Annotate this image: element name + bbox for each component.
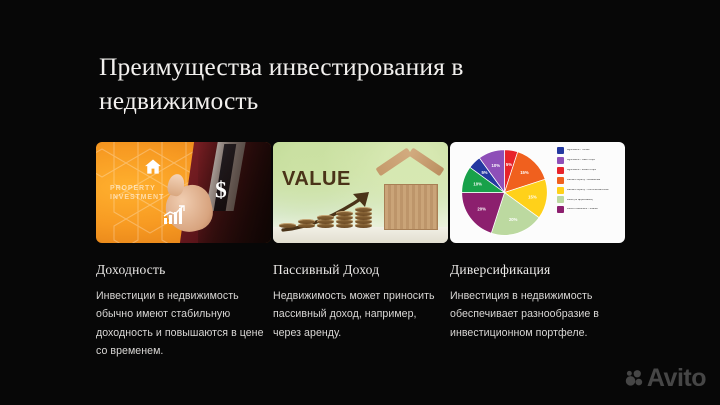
legend-swatch (557, 177, 564, 184)
avito-watermark: Avito (625, 366, 706, 391)
pie-chart-graphic: 5%15%15%20%20%10%5%10% (454, 146, 555, 239)
avito-dots-logo (625, 369, 644, 388)
legend-item: Direct Investment - Shares (557, 206, 621, 213)
legend-item: Rental Property - Residential (557, 177, 621, 184)
legend-label: Land (for appreciation) (567, 199, 593, 202)
coin-stack-5e (355, 207, 372, 212)
legend-swatch (557, 196, 564, 203)
card-1-body: Инвестиции в недвижимость обычно имеют с… (96, 287, 267, 360)
legend-swatch (557, 157, 564, 164)
bar-chart-icon (162, 204, 188, 226)
legend-label: Direct Investment - Shares (567, 208, 598, 211)
card-2-heading: Пассивный Доход (273, 262, 448, 278)
pie-slice-label: 15% (520, 170, 529, 175)
card-3-body: Инвестиция в недвижимость обеспечивает р… (450, 287, 621, 342)
legend-item: Rental Property - Commercial/Office (557, 187, 621, 194)
property-investment-photo: $ PROPERTY INVESTME (96, 142, 271, 243)
house-body (384, 184, 438, 230)
coin-stack-2b (298, 219, 315, 224)
card-1-image: $ PROPERTY INVESTME (96, 142, 271, 243)
value-growth-photo: VALUE (273, 142, 448, 243)
legend-swatch (557, 206, 564, 213)
legend-swatch (557, 187, 564, 194)
diversification-pie-chart: 5%15%15%20%20%10%5%10% Agriculture - Tim… (450, 142, 625, 243)
pie-slice-label: 10% (473, 181, 482, 186)
card-1-heading: Доходность (96, 262, 271, 278)
legend-label: Agriculture - Mixed Crops (567, 169, 596, 172)
legend-item: Land (for appreciation) (557, 196, 621, 203)
pie-slice-label: 5% (481, 170, 487, 175)
legend-label: Rental Property - Commercial/Office (567, 189, 609, 192)
card-2-body: Недвижимость может приносить пассивный д… (273, 287, 444, 342)
benefit-card-1: $ PROPERTY INVESTME (96, 142, 271, 360)
legend-item: Agriculture - Cash Crops (557, 157, 621, 164)
coin-stack-4d (336, 211, 353, 216)
house-roof-left (375, 148, 412, 177)
pie-slice-label: 15% (528, 194, 537, 199)
pie-chart-legend: Agriculture - TimberAgriculture - Cash C… (557, 147, 621, 216)
card-2-image: VALUE (273, 142, 448, 243)
slide-canvas: Преимущества инвестирования в недвижимос… (0, 0, 720, 405)
legend-item: Agriculture - Mixed Crops (557, 167, 621, 174)
pie-slice-label: 20% (477, 207, 486, 212)
property-investment-label: PROPERTY INVESTMENT (110, 184, 188, 203)
house-roof-right (408, 148, 445, 177)
house-icon (143, 157, 163, 177)
photo-vignette (198, 142, 272, 243)
legend-label: Agriculture - Cash Crops (567, 159, 595, 162)
dollar-icon: $ (211, 176, 231, 202)
pie-slice-label: 5% (506, 162, 512, 167)
avito-wordmark: Avito (647, 366, 706, 391)
card-3-heading: Диверсификация (450, 262, 625, 278)
legend-item: Agriculture - Timber (557, 147, 621, 154)
pie-slice-label: 10% (492, 163, 501, 168)
benefit-card-2: VALUE (273, 142, 448, 342)
legend-swatch (557, 147, 564, 154)
pie-slice-label: 20% (509, 217, 518, 222)
page-title: Преимущества инвестирования в недвижимос… (99, 50, 569, 118)
svg-text:$: $ (215, 177, 227, 202)
legend-label: Rental Property - Residential (567, 179, 600, 182)
wooden-house-model (378, 160, 442, 230)
legend-label: Agriculture - Timber (567, 149, 590, 152)
coin-stack-3c (317, 215, 334, 220)
legend-swatch (557, 167, 564, 174)
pie-slice-group (462, 150, 548, 236)
coin-stack-1 (279, 223, 296, 228)
benefit-card-3: 5%15%15%20%20%10%5%10% Agriculture - Tim… (450, 142, 625, 342)
card-3-image: 5%15%15%20%20%10%5%10% Agriculture - Tim… (450, 142, 625, 243)
